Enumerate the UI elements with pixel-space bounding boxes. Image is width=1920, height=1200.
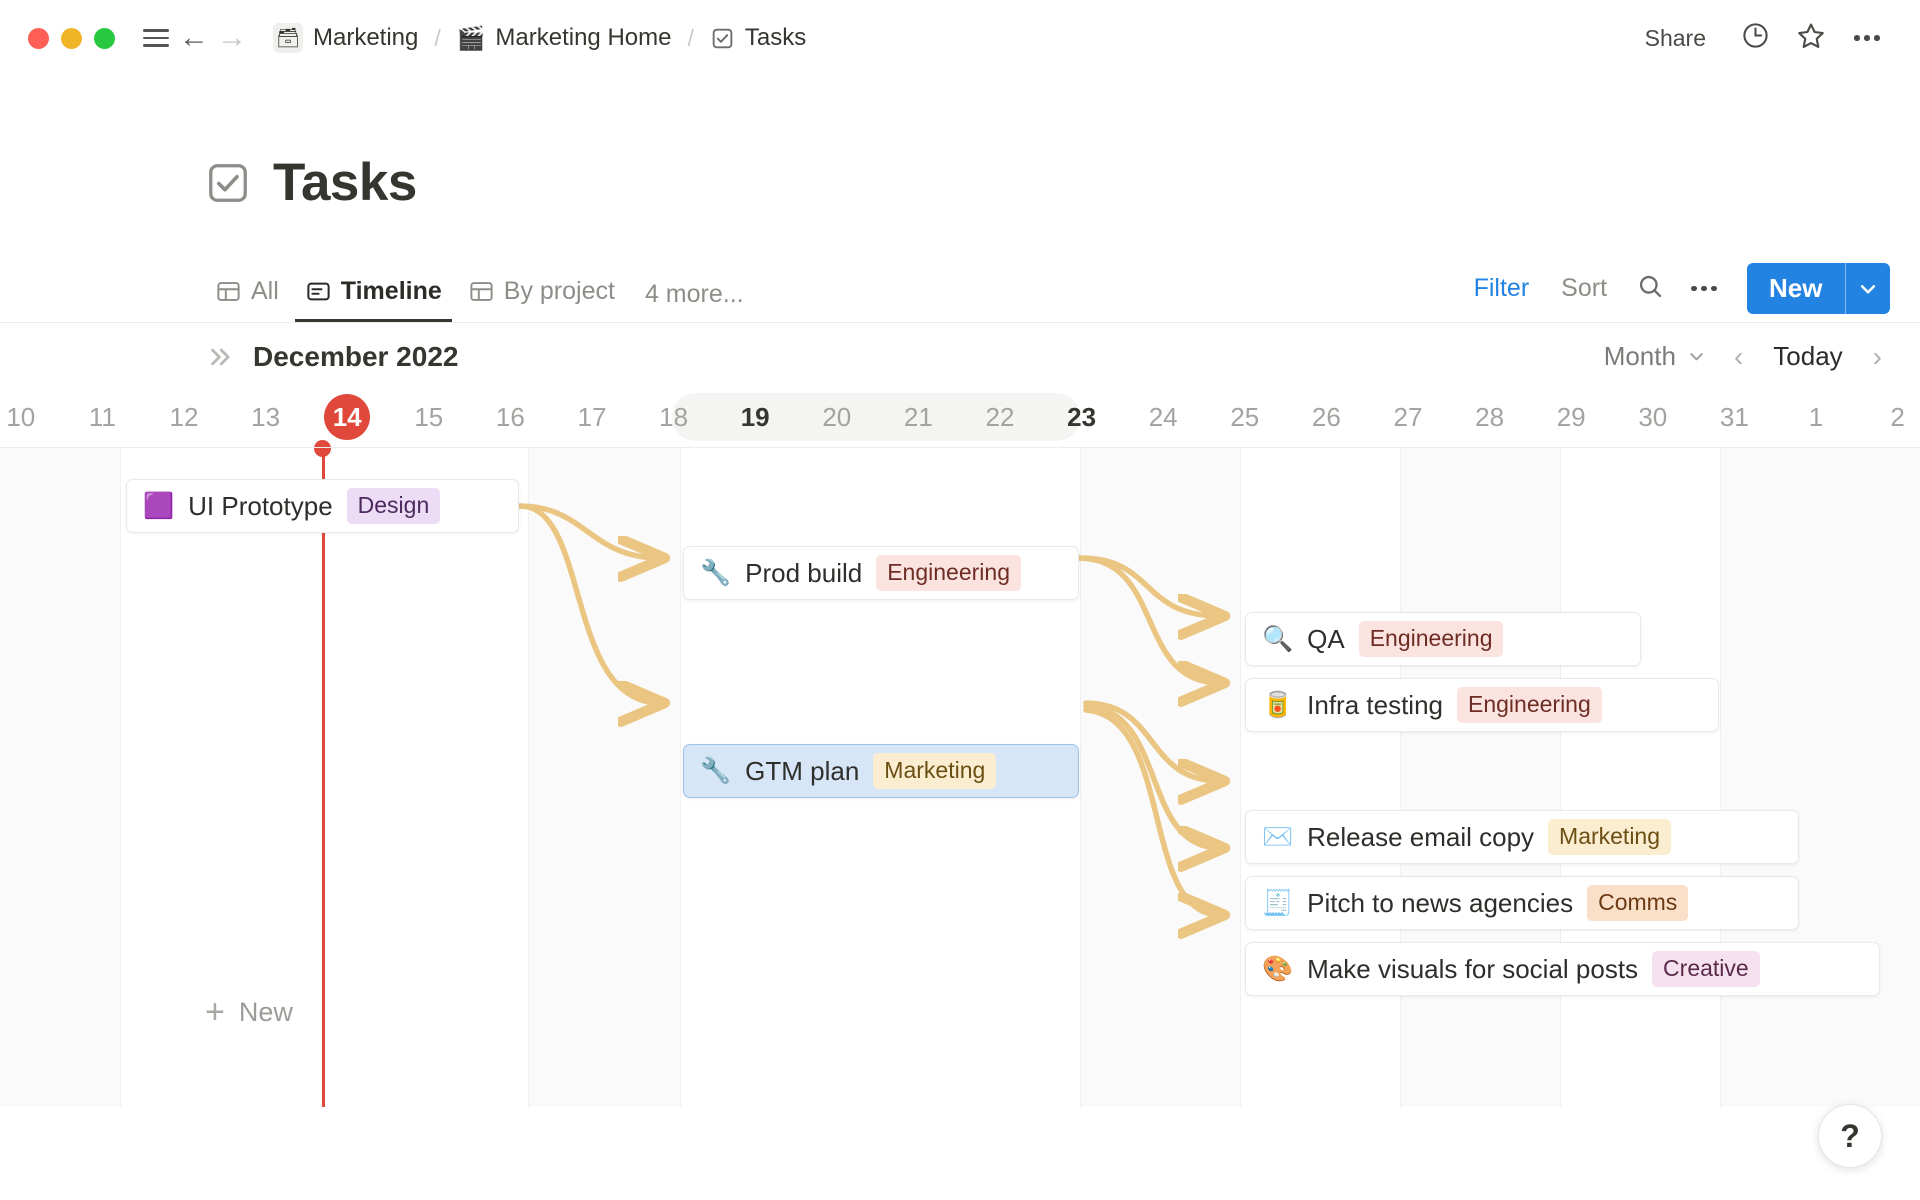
task-card-qa[interactable]: 🔍 QA Engineering — [1245, 612, 1641, 666]
ruler-day-label: 28 — [1475, 402, 1504, 433]
ruler-day-label: 30 — [1638, 402, 1667, 433]
window-titlebar: ← → 🗃 Marketing / 🎬 Marketing Home / — [0, 0, 1920, 76]
ruler-day-14[interactable]: 14 — [306, 390, 388, 444]
breadcrumb: 🗃 Marketing / 🎬 Marketing Home / Tasks — [265, 19, 814, 57]
breadcrumb-separator: / — [679, 25, 701, 52]
ruler-day-24[interactable]: 24 — [1122, 390, 1204, 444]
view-toolbar: Filter Sort New — [1468, 263, 1890, 322]
back-button[interactable]: ← — [175, 19, 213, 57]
timeline-band — [1080, 448, 1240, 1108]
ruler-day-18[interactable]: 18 — [633, 390, 715, 444]
ruler-day-16[interactable]: 16 — [470, 390, 552, 444]
add-new-task-label: New — [239, 997, 293, 1028]
table-icon — [468, 278, 495, 305]
filter-button[interactable]: Filter — [1468, 271, 1536, 306]
minimize-window-button[interactable] — [61, 28, 82, 49]
magnifier-icon: 🔍 — [1262, 627, 1293, 652]
ruler-day-label: 29 — [1557, 402, 1586, 433]
timeline-scale-label: Month — [1604, 341, 1676, 372]
task-tag: Engineering — [1359, 621, 1504, 656]
traffic-lights — [28, 28, 115, 49]
timeline-gridline — [1240, 448, 1241, 1108]
ruler-day-31[interactable]: 31 — [1694, 390, 1776, 444]
task-name: QA — [1307, 624, 1345, 655]
ruler-day-23[interactable]: 23 — [1041, 390, 1123, 444]
task-card-infra-testing[interactable]: 🥫 Infra testing Engineering — [1245, 678, 1719, 732]
view-tabs: All Timeline By projec — [205, 271, 754, 322]
add-new-task-row[interactable]: + New — [205, 995, 293, 1029]
tab-all[interactable]: All — [205, 271, 289, 322]
forward-button[interactable]: → — [213, 19, 251, 57]
close-window-button[interactable] — [28, 28, 49, 49]
checkbox-icon[interactable] — [205, 160, 251, 206]
ruler-day-label: 18 — [659, 402, 688, 433]
timeline-band — [1720, 448, 1920, 1108]
ruler-day-13[interactable]: 13 — [225, 390, 307, 444]
plus-icon: + — [205, 995, 225, 1029]
tab-label: By project — [504, 277, 615, 306]
clapperboard-icon: 🎬 — [457, 27, 486, 50]
ruler-day-2[interactable]: 2 — [1857, 390, 1920, 444]
ruler-day-label: 24 — [1149, 402, 1178, 433]
history-button[interactable] — [1738, 21, 1772, 55]
ruler-day-label: 14 — [324, 394, 370, 440]
timeline-gridline — [1560, 448, 1561, 1108]
task-tag: Engineering — [876, 555, 1021, 590]
ruler-day-label: 23 — [1067, 402, 1096, 433]
breadcrumb-item-tasks[interactable]: Tasks — [702, 20, 814, 56]
hamburger-icon — [143, 29, 169, 47]
task-tag: Marketing — [873, 753, 996, 788]
palette-icon: 🎨 — [1262, 957, 1293, 982]
chevron-down-icon — [1685, 345, 1708, 368]
ruler-day-30[interactable]: 30 — [1612, 390, 1694, 444]
arrow-left-icon: ← — [175, 23, 213, 53]
ruler-day-25[interactable]: 25 — [1204, 390, 1286, 444]
breadcrumb-separator: / — [426, 25, 448, 52]
purple-grid-icon: 🟪 — [143, 494, 174, 519]
today-marker-line — [322, 448, 325, 1108]
favorite-button[interactable] — [1794, 21, 1828, 55]
search-icon — [1636, 272, 1665, 306]
task-tag: Marketing — [1548, 819, 1671, 854]
task-card-prod-build[interactable]: 🔧 Prod build Engineering — [683, 546, 1079, 600]
ruler-day-27[interactable]: 27 — [1367, 390, 1449, 444]
tab-by-project[interactable]: By project — [458, 271, 625, 322]
chevron-down-icon — [1855, 276, 1881, 302]
notion-window: ← → 🗃 Marketing / 🎬 Marketing Home / — [0, 0, 1920, 1200]
ruler-day-label: 31 — [1720, 402, 1749, 433]
breadcrumb-item-marketing[interactable]: 🗃 Marketing — [265, 19, 426, 57]
new-button-group: New — [1747, 263, 1890, 314]
breadcrumb-label: Marketing Home — [495, 24, 671, 52]
help-button[interactable]: ? — [1818, 1104, 1882, 1168]
task-card-make-visuals-for-social-posts[interactable]: 🎨 Make visuals for social posts Creative — [1245, 942, 1880, 996]
task-name: UI Prototype — [188, 491, 333, 522]
ruler-day-17[interactable]: 17 — [551, 390, 633, 444]
ruler-day-label: 10 — [6, 402, 35, 433]
table-icon — [215, 278, 242, 305]
task-tag: Comms — [1587, 885, 1688, 920]
clock-icon — [1740, 20, 1771, 56]
breadcrumb-label: Marketing — [313, 24, 418, 52]
ruler-day-label: 25 — [1230, 402, 1259, 433]
timeline-band — [0, 448, 120, 1108]
tabs-more-button[interactable]: 4 more... — [631, 274, 754, 322]
ruler-day-label: 19 — [741, 402, 770, 433]
sidebar-toggle-button[interactable] — [137, 19, 175, 57]
ruler-day-label: 2 — [1890, 402, 1904, 433]
ruler-day-label: 11 — [89, 402, 116, 433]
ruler-day-label: 16 — [496, 402, 525, 433]
timeline-month-group: December 2022 — [205, 341, 458, 373]
ruler-day-11[interactable]: 11 — [62, 390, 144, 444]
ruler-day-label: 20 — [822, 402, 851, 433]
page-title: Tasks — [205, 152, 417, 213]
card-box-icon: 🗃 — [273, 23, 303, 53]
ruler-day-label: 21 — [904, 402, 933, 433]
task-tag: Design — [347, 488, 441, 523]
wrench-icon: 🔧 — [700, 759, 731, 784]
tab-timeline[interactable]: Timeline — [295, 271, 452, 322]
breadcrumb-label: Tasks — [745, 24, 806, 52]
ruler-day-26[interactable]: 26 — [1286, 390, 1368, 444]
new-button[interactable]: New — [1747, 263, 1844, 314]
page-bottom-area — [0, 1107, 1920, 1200]
more-horizontal-icon — [1854, 35, 1880, 41]
timeline-gridline — [1720, 448, 1721, 1108]
ruler-day-28[interactable]: 28 — [1449, 390, 1531, 444]
page-more-button[interactable] — [1850, 21, 1884, 55]
wrench-icon: 🔧 — [700, 561, 731, 586]
task-card-gtm-plan[interactable]: 🔧 GTM plan Marketing — [683, 744, 1079, 798]
view-more-button[interactable] — [1687, 272, 1721, 306]
tab-label: Timeline — [341, 277, 442, 306]
view-tabs-bar: All Timeline By projec — [0, 258, 1920, 323]
ruler-day-label: 22 — [986, 402, 1015, 433]
timeline-gridline — [680, 448, 681, 1108]
ruler-day-22[interactable]: 22 — [959, 390, 1041, 444]
timeline-gridline — [120, 448, 121, 1108]
task-name: Infra testing — [1307, 690, 1443, 721]
tab-label: All — [251, 277, 279, 306]
page-title-text: Tasks — [273, 152, 417, 213]
share-button[interactable]: Share — [1635, 20, 1716, 57]
ruler-day-10[interactable]: 10 — [0, 390, 62, 444]
ruler-day-label: 1 — [1809, 402, 1823, 433]
task-tag: Creative — [1652, 951, 1760, 986]
timeline-gridline — [1080, 448, 1081, 1108]
timeline-next-button[interactable]: › — [1865, 339, 1890, 375]
ruler-day-label: 15 — [414, 402, 443, 433]
receipt-icon: 🧾 — [1262, 891, 1293, 916]
ruler-day-1[interactable]: 1 — [1775, 390, 1857, 444]
ruler-day-12[interactable]: 12 — [143, 390, 225, 444]
task-name: Pitch to news agencies — [1307, 888, 1573, 919]
timeline-gridline — [1400, 448, 1401, 1108]
task-name: Prod build — [745, 558, 862, 589]
ruler-day-29[interactable]: 29 — [1530, 390, 1612, 444]
ruler-day-21[interactable]: 21 — [878, 390, 960, 444]
task-tag: Engineering — [1457, 687, 1602, 722]
canister-icon: 🥫 — [1262, 693, 1293, 718]
timeline-gridline — [528, 448, 529, 1108]
double-chevron-right-icon[interactable] — [205, 342, 235, 372]
ruler-day-label: 12 — [170, 402, 199, 433]
task-card-release-email-copy[interactable]: ✉️ Release email copy Marketing — [1245, 810, 1799, 864]
checkbox-icon — [710, 26, 735, 51]
envelope-icon: ✉️ — [1262, 825, 1293, 850]
star-icon — [1795, 20, 1827, 57]
task-name: GTM plan — [745, 756, 859, 787]
ruler-day-15[interactable]: 15 — [388, 390, 470, 444]
timeline-today-button[interactable]: Today — [1769, 339, 1846, 374]
timeline-controls: Month ‹ Today › — [1604, 339, 1890, 375]
task-card-pitch-to-news-agencies[interactable]: 🧾 Pitch to news agencies Comms — [1245, 876, 1799, 930]
arrow-right-icon: → — [213, 23, 251, 53]
timeline-band — [1400, 448, 1560, 1108]
timeline-prev-button[interactable]: ‹ — [1726, 339, 1751, 375]
task-card-ui-prototype[interactable]: 🟪 UI Prototype Design — [126, 479, 519, 533]
ruler-day-20[interactable]: 20 — [796, 390, 878, 444]
ruler-day-label: 13 — [251, 402, 280, 433]
question-mark-icon: ? — [1840, 1118, 1860, 1155]
timeline-month-label: December 2022 — [253, 341, 458, 373]
timeline-header: December 2022 Month ‹ Today › — [0, 323, 1920, 390]
maximize-window-button[interactable] — [94, 28, 115, 49]
titlebar-actions: Share — [1635, 20, 1892, 57]
new-dropdown-button[interactable] — [1846, 263, 1890, 314]
sort-button[interactable]: Sort — [1555, 271, 1613, 306]
task-name: Release email copy — [1307, 822, 1534, 853]
timeline-band — [528, 448, 680, 1108]
search-button[interactable] — [1633, 272, 1667, 306]
breadcrumb-item-marketing-home[interactable]: 🎬 Marketing Home — [449, 20, 680, 56]
task-name: Make visuals for social posts — [1307, 954, 1638, 985]
timeline-date-ruler: 1011121314151617181920212223242526272829… — [0, 390, 1920, 445]
timeline-icon — [305, 278, 332, 305]
timeline-scale-select[interactable]: Month — [1604, 341, 1708, 372]
ruler-day-19[interactable]: 19 — [714, 390, 796, 444]
more-horizontal-icon — [1691, 286, 1717, 292]
ruler-day-label: 17 — [578, 402, 607, 433]
ruler-day-label: 27 — [1394, 402, 1423, 433]
ruler-day-label: 26 — [1312, 402, 1341, 433]
